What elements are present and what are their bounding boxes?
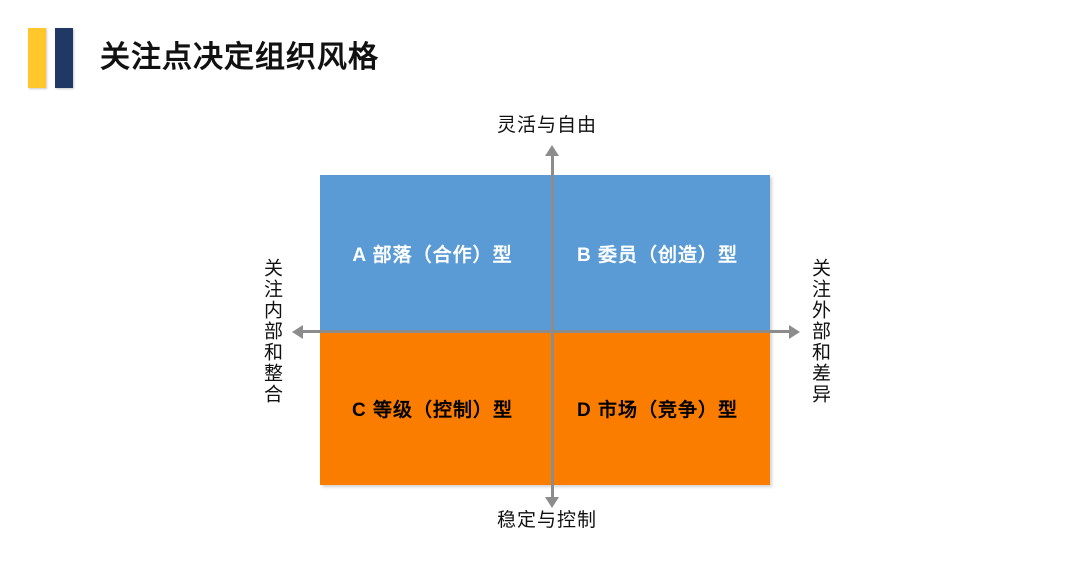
matrix-diagram: A 部落（合作）型 B 委员（创造）型 C 等级（控制）型 D 市场（竞争）型 … <box>0 0 1080 584</box>
quadrant-d-label: D 市场（竞争）型 <box>577 395 738 422</box>
quadrant-b-label: B 委员（创造）型 <box>577 240 738 267</box>
quadrant-c[interactable]: C 等级（控制）型 <box>320 331 545 485</box>
quadrant-c-label: C 等级（控制）型 <box>352 395 513 422</box>
quadrant-a[interactable]: A 部落（合作）型 <box>320 175 545 331</box>
axis-label-left: 关注内部和整合 <box>262 258 281 405</box>
arrow-left-icon <box>292 325 303 339</box>
quadrant-a-label: A 部落（合作）型 <box>352 240 512 267</box>
quadrant-d[interactable]: D 市场（竞争）型 <box>545 331 770 485</box>
axis-label-top: 灵活与自由 <box>497 110 597 137</box>
horizontal-axis-line <box>300 330 792 333</box>
axis-label-right: 关注外部和差异 <box>810 258 829 405</box>
arrow-right-icon <box>789 325 800 339</box>
quadrant-b[interactable]: B 委员（创造）型 <box>545 175 770 331</box>
vertical-axis-line <box>551 152 554 500</box>
axis-label-bottom: 稳定与控制 <box>497 505 597 532</box>
arrow-up-icon <box>545 145 559 156</box>
